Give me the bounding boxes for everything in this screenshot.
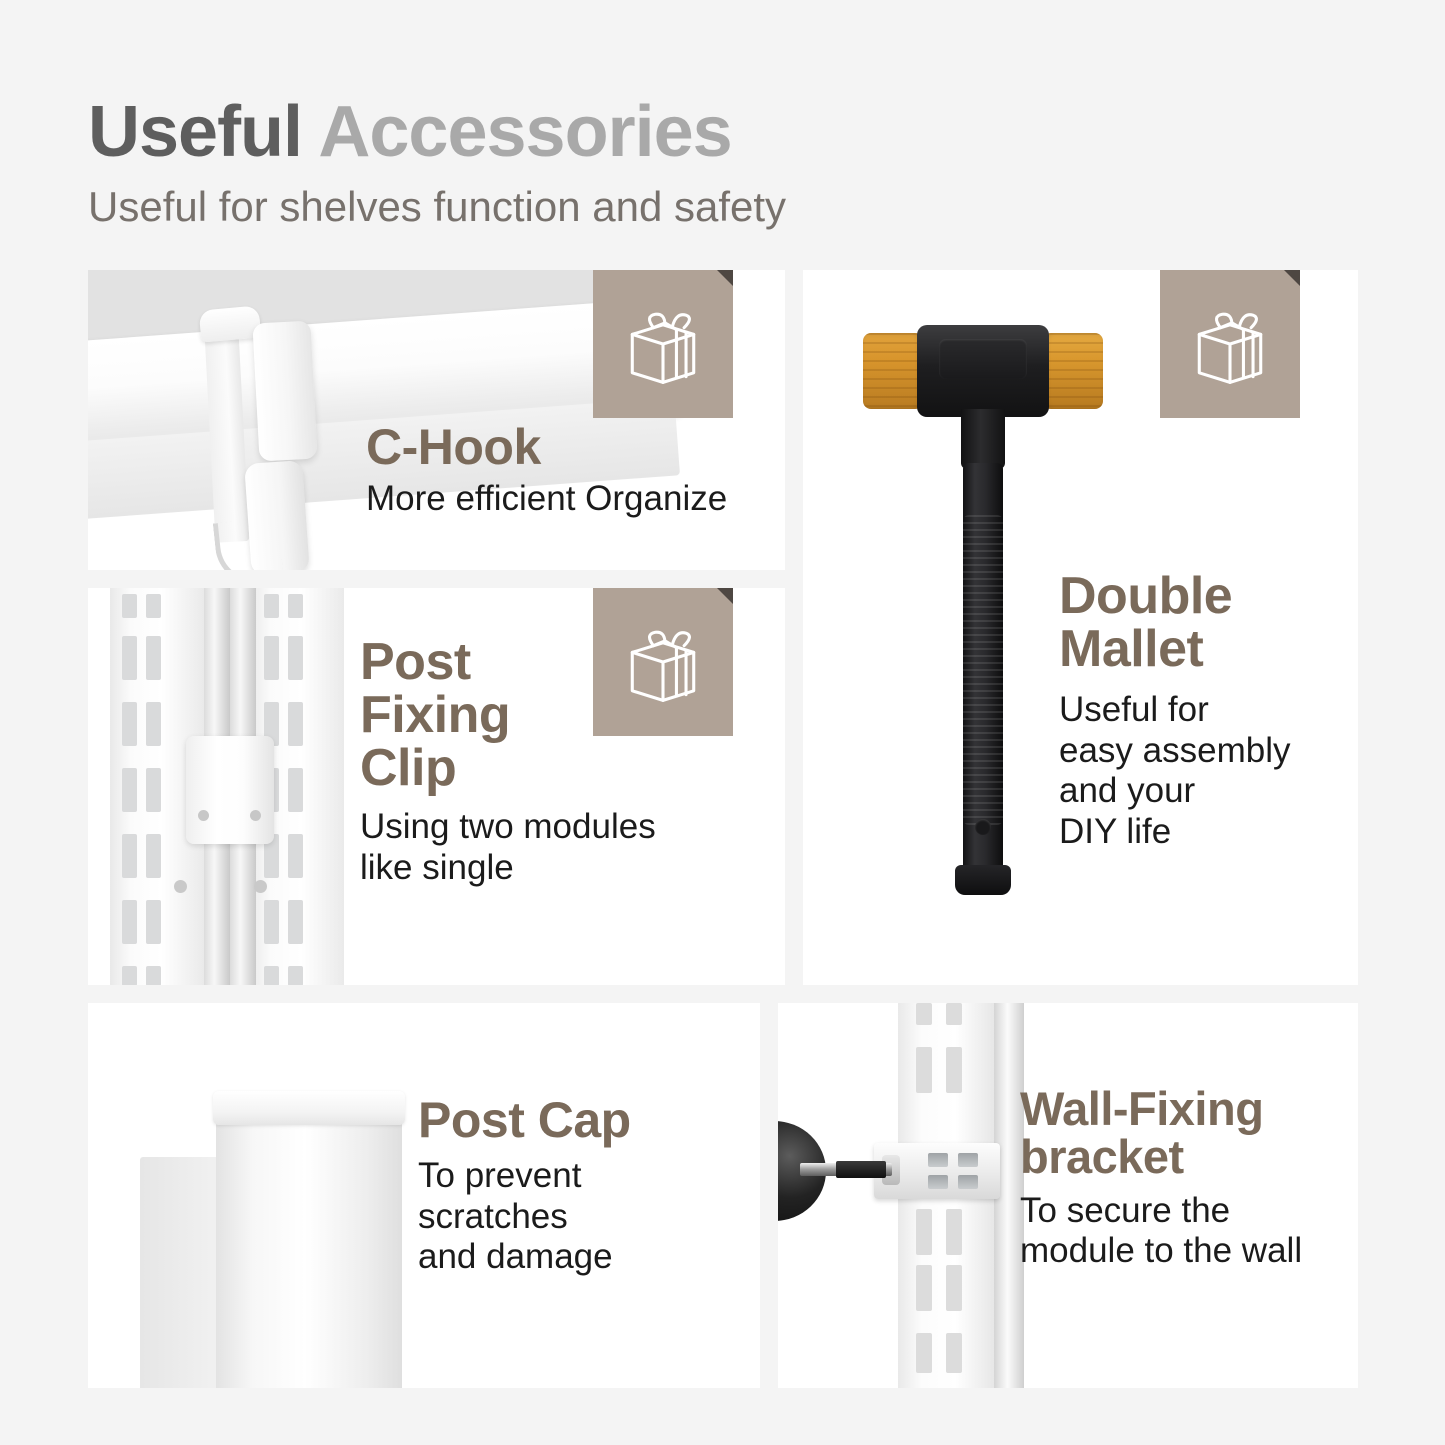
post-fixing-clip-description-line-2: like single [360, 848, 760, 889]
post-slot [288, 966, 303, 985]
screwdriver-tip [836, 1161, 886, 1178]
wall-fixing-bracket-description-line-1: To secure the [1020, 1191, 1350, 1232]
c-hook-wire [213, 517, 284, 570]
page-header: Useful Accessories Useful for shelves fu… [88, 96, 1188, 230]
badge-fold-corner [1284, 270, 1300, 286]
post-slot [264, 900, 279, 944]
post-fixing-clip-title-line-2: Fixing [360, 689, 760, 742]
post-cap-description-line-1: To prevent [418, 1156, 738, 1197]
post-slot [288, 636, 303, 680]
c-hook-upper-clip [199, 305, 262, 342]
infographic-page: Useful Accessories Useful for shelves fu… [0, 0, 1445, 1445]
post-slot [916, 1003, 932, 1025]
c-hook-body [252, 321, 317, 462]
post-slot [146, 768, 161, 812]
post-slot [288, 768, 303, 812]
post-fixing-clip-product-image [102, 588, 352, 985]
mallet-handle-end [955, 865, 1011, 895]
gift-badge [1160, 270, 1300, 418]
post-fixing-clip-title-line-1: Post [360, 636, 760, 689]
post-slot [946, 1003, 962, 1025]
badge-fold-corner [717, 588, 733, 604]
post-slot [946, 1333, 962, 1373]
gift-box-icon [1182, 296, 1278, 392]
post-column [216, 1103, 402, 1388]
page-title-primary: Useful [88, 92, 318, 172]
adjacent-post [140, 1157, 226, 1388]
page-title-secondary: Accessories [318, 92, 731, 172]
post-slot [122, 594, 137, 618]
post-fixing-clip-title-line-3: Clip [360, 742, 760, 795]
post-slot [264, 594, 279, 618]
gift-box-icon [615, 296, 711, 392]
c-hook-text-block: C-Hook More efficient Organize [366, 422, 766, 520]
post-slot [122, 636, 137, 680]
gift-badge [593, 270, 733, 418]
post-slot [146, 636, 161, 680]
card-c-hook: C-Hook More efficient Organize [88, 270, 785, 570]
post-slot [146, 594, 161, 618]
post-slot [288, 834, 303, 878]
wall-fixing-bracket-text-block: Wall-Fixing bracket To secure the module… [1020, 1085, 1350, 1272]
mallet-head-right [1043, 333, 1103, 409]
double-mallet-title-line-1: Double [1059, 570, 1349, 623]
post-slot [946, 1047, 962, 1093]
post-slot [288, 900, 303, 944]
post-cap-description-line-3: and damage [418, 1237, 738, 1278]
post-slot [916, 1047, 932, 1093]
post-slot [146, 834, 161, 878]
post-slot [146, 966, 161, 985]
post-slot [146, 702, 161, 746]
page-subtitle: Useful for shelves function and safety [88, 184, 1188, 230]
post-rivet [254, 880, 267, 893]
wall-fixing-bracket-description-line-2: module to the wall [1020, 1231, 1350, 1272]
post-fixing-clip-description-line-1: Using two modules [360, 807, 760, 848]
post-slot [946, 1209, 962, 1255]
post-slot [122, 966, 137, 985]
post-slot [264, 966, 279, 985]
post-slot [916, 1265, 932, 1311]
mallet-grip-texture [963, 515, 1003, 825]
double-mallet-description-line-1: Useful for [1059, 690, 1349, 731]
post-fixing-clip [186, 736, 274, 844]
double-mallet-description-line-2: easy assembly [1059, 731, 1349, 772]
double-mallet-text-block: Double Mallet Useful for easy assembly a… [1059, 570, 1349, 852]
double-mallet-description-line-4: DIY life [1059, 812, 1349, 853]
card-post-cap: Post Cap To prevent scratches and damage [88, 1003, 760, 1388]
post-fixing-clip-text-block: Post Fixing Clip Using two modules like … [360, 636, 760, 888]
post-slot [122, 768, 137, 812]
bracket-slot [958, 1153, 978, 1167]
double-mallet-description-line-3: and your [1059, 771, 1349, 812]
c-hook-title: C-Hook [366, 422, 766, 473]
clip-hole [250, 810, 261, 821]
mallet-head-plate [939, 339, 1027, 379]
mallet-neck [961, 409, 1005, 469]
clip-hole [198, 810, 209, 821]
card-wall-fixing-bracket: Wall-Fixing bracket To secure the module… [778, 1003, 1358, 1388]
post-slot [122, 702, 137, 746]
card-double-mallet: Double Mallet Useful for easy assembly a… [803, 270, 1358, 985]
bracket-slot [958, 1175, 978, 1189]
post-cap [213, 1091, 405, 1125]
post-cap-description-line-2: scratches [418, 1197, 738, 1238]
mallet-head-left [863, 333, 923, 409]
post-rivet [174, 880, 187, 893]
mallet-hang-hole [975, 819, 991, 835]
post-slot [916, 1209, 932, 1255]
page-title: Useful Accessories [88, 96, 1188, 168]
post-slot [122, 900, 137, 944]
post-slot [288, 702, 303, 746]
card-post-fixing-clip: Post Fixing Clip Using two modules like … [88, 588, 785, 985]
c-hook-description: More efficient Organize [366, 479, 766, 520]
post-cap-title: Post Cap [418, 1095, 738, 1146]
post-cap-text-block: Post Cap To prevent scratches and damage [418, 1095, 738, 1278]
bracket-slot [928, 1175, 948, 1189]
post-slot [122, 834, 137, 878]
wall-fixing-bracket-title-line-2: bracket [1020, 1133, 1350, 1181]
badge-fold-corner [717, 270, 733, 286]
double-mallet-title-line-2: Mallet [1059, 623, 1349, 676]
bracket-slot [928, 1153, 948, 1167]
post-slot [946, 1265, 962, 1311]
post-slot [288, 594, 303, 618]
post-slot [146, 900, 161, 944]
wall-fixing-bracket-title-line-1: Wall-Fixing [1020, 1085, 1350, 1133]
post-slot [916, 1333, 932, 1373]
post-slot [264, 636, 279, 680]
